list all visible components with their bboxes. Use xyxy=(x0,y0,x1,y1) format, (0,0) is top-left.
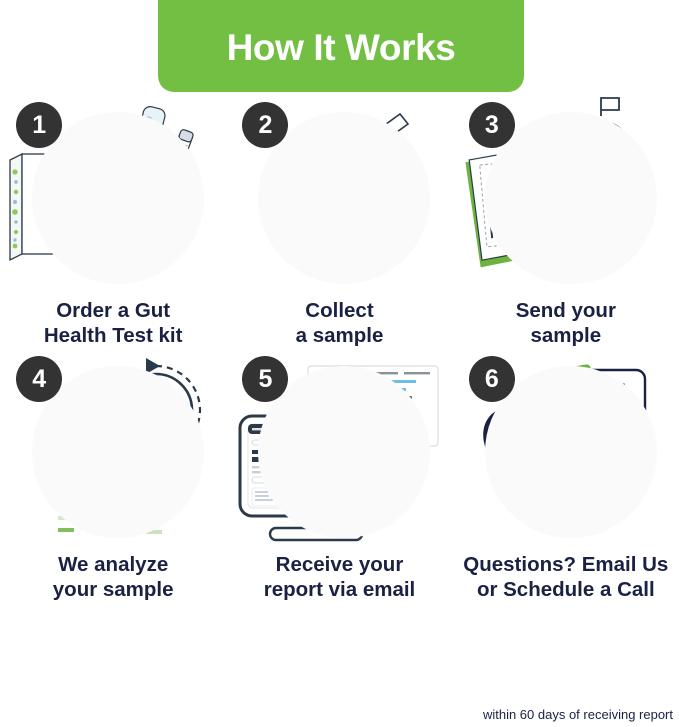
step-caption-2: Collect a sample xyxy=(296,298,384,348)
step-number-badge-6: 6 xyxy=(469,356,515,402)
step-number-badge-4: 4 xyxy=(16,356,62,402)
step-caption-6: Questions? Email Us or Schedule a Call xyxy=(463,552,668,602)
step-3: Return Mailer TO: AnimalBiome 3 Send you… xyxy=(453,94,679,348)
step-number-badge-3: 3 xyxy=(469,102,515,148)
step-bg-circle-2 xyxy=(258,112,430,284)
step-caption-5: Receive your report via email xyxy=(264,552,416,602)
header-banner: How It Works xyxy=(158,0,524,92)
test-kit-box-illustration: Gut Health Test 1 xyxy=(4,94,222,294)
microbiome-report-monitor-illustration: 5 xyxy=(230,348,448,548)
step-5: 5 Receive your report via email xyxy=(226,348,452,602)
step-1: Gut Health Test 1 Order a Gut Health Tes… xyxy=(0,94,226,348)
step-caption-4: We analyze your sample xyxy=(53,552,174,602)
step-bg-circle-5 xyxy=(258,366,430,538)
step-4: 4 We analyze your sample xyxy=(0,348,226,602)
sample-vial-illustration: 2 xyxy=(230,94,448,294)
step-2: 2 Collect a sample xyxy=(226,94,452,348)
step-caption-1: Order a Gut Health Test kit xyxy=(44,298,183,348)
step-6: 15 MIN Consult 6 Questions? Email Us or … xyxy=(453,348,679,602)
footnote: within 60 days of receiving report xyxy=(483,707,673,722)
step-caption-3: Send your sample xyxy=(516,298,616,348)
page-title: How It Works xyxy=(227,29,456,66)
steps-grid: Gut Health Test 1 Order a Gut Health Tes… xyxy=(0,94,679,602)
return-mailer-mailbox-illustration: Return Mailer TO: AnimalBiome 3 xyxy=(457,94,675,294)
analysis-chart-clock-illustration: 4 xyxy=(4,348,222,548)
step-number-badge-1: 1 xyxy=(16,102,62,148)
phone-consult-illustration: 15 MIN Consult 6 xyxy=(457,348,675,548)
header: How It Works xyxy=(0,0,679,94)
